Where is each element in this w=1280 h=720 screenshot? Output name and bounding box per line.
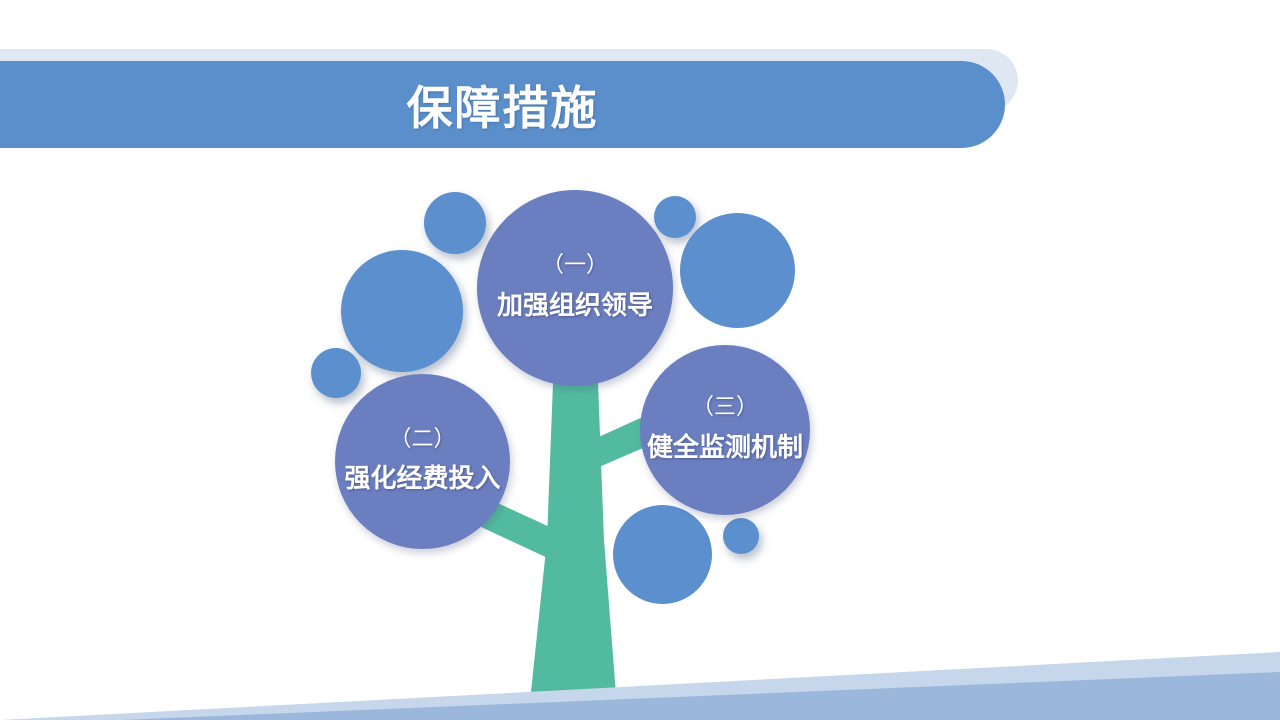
decorative-circle-far-left-small <box>311 348 361 398</box>
node-circle-3[interactable]: （三） 健全监测机制 <box>640 345 810 515</box>
decorative-circle-bottom-right-small <box>723 518 759 554</box>
node-1-label: 加强组织领导 <box>497 290 653 324</box>
footer-bands <box>0 600 1280 720</box>
node-1-index: （一） <box>542 252 608 280</box>
node-3-label: 健全监测机制 <box>647 432 803 466</box>
decorative-circle-left-large <box>341 250 463 372</box>
slide: 保障措施 （一） 加强组织领导 （二） 强化经费投入 （三） 健全监测机制 <box>0 0 1280 720</box>
node-2-index: （二） <box>389 426 455 454</box>
node-circle-1[interactable]: （一） 加强组织领导 <box>477 190 673 386</box>
node-3-index: （三） <box>692 394 758 422</box>
decorative-circle-right-large <box>680 213 795 328</box>
node-2-label: 强化经费投入 <box>344 463 500 497</box>
decorative-circle-top-right-small <box>654 196 696 238</box>
decorative-circle-top-left-small <box>424 192 486 254</box>
decorative-circle-bottom-large <box>613 505 712 604</box>
node-circle-2[interactable]: （二） 强化经费投入 <box>335 374 510 549</box>
